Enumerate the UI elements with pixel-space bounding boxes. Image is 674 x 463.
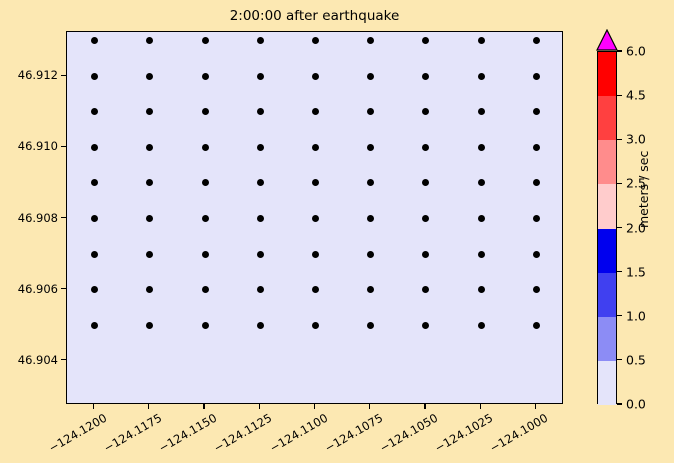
data-point [422,179,429,186]
colorbar-tick-mark [617,183,622,184]
colorbar-tick-label: 4.5 [626,88,646,103]
data-point [146,179,153,186]
data-point [533,108,540,115]
scatter-plot-axes[interactable] [66,31,563,404]
y-tick-label: 46.912 [0,68,58,82]
data-point [202,179,209,186]
data-point [202,108,209,115]
colorbar-tick-label: 6.0 [626,44,646,59]
data-point [533,215,540,222]
data-point [312,215,319,222]
data-point [312,179,319,186]
x-tick-mark [148,404,149,409]
x-tick-label: −124.1150 [156,412,217,455]
data-point [478,286,485,293]
y-tick-label: 46.910 [0,139,58,153]
data-point [367,322,374,329]
data-point [91,108,98,115]
data-point [257,251,264,258]
y-tick-mark [61,146,66,147]
data-point [91,73,98,80]
colorbar-tick-mark [617,315,622,316]
data-point [146,73,153,80]
x-tick-mark [480,404,481,409]
colorbar-tick-mark [617,95,622,96]
colorbar-band [598,184,616,228]
y-tick-label: 46.908 [0,211,58,225]
x-tick-label: −124.1175 [101,412,162,455]
data-point [422,37,429,44]
data-point [257,179,264,186]
data-point [478,179,485,186]
colorbar-tick-mark [617,227,622,228]
data-point [367,37,374,44]
data-point [257,37,264,44]
data-point [422,322,429,329]
data-point [312,251,319,258]
data-point [312,73,319,80]
data-point [478,73,485,80]
data-point [422,73,429,80]
colorbar-tick-label: 0.0 [626,397,646,412]
data-point [91,215,98,222]
page-title: 2:00:00 after earthquake [66,8,563,24]
data-point [367,286,374,293]
x-tick-label: −124.1125 [212,412,273,455]
data-point [257,108,264,115]
data-point [533,37,540,44]
colorbar-tick-mark [617,359,622,360]
colorbar-band [598,140,616,184]
data-point [146,108,153,115]
colorbar-tick-mark [617,50,622,51]
data-point [91,37,98,44]
x-tick-label: −124.1025 [432,412,493,455]
data-point [202,251,209,258]
colorbar-over-range-arrow [596,29,618,51]
y-tick-mark [61,75,66,76]
data-point [367,144,374,151]
colorbar-band [598,361,616,405]
data-point [367,251,374,258]
data-point [533,144,540,151]
data-point [367,179,374,186]
data-point [146,286,153,293]
data-point [91,286,98,293]
x-tick-label: −124.1050 [377,412,438,455]
x-tick-mark [535,404,536,409]
x-tick-label: −124.1100 [267,412,328,455]
data-point [478,108,485,115]
data-point [312,322,319,329]
data-point [533,251,540,258]
x-tick-mark [259,404,260,409]
y-tick-label: 46.904 [0,353,58,367]
data-point [367,215,374,222]
y-tick-label: 46.906 [0,282,58,296]
x-tick-mark [203,404,204,409]
colorbar-tick-label: 1.0 [626,308,646,323]
data-point [146,215,153,222]
x-tick-mark [93,404,94,409]
colorbar-band [598,52,616,96]
data-point [422,251,429,258]
data-point [478,251,485,258]
colorbar-tick-mark [617,271,622,272]
colorbar-tick-label: 0.5 [626,352,646,367]
data-point [146,322,153,329]
colorbar-tick-mark [617,139,622,140]
colorbar-tick-label: 1.5 [626,264,646,279]
data-point [91,144,98,151]
x-tick-mark [369,404,370,409]
data-point [367,73,374,80]
data-point [146,37,153,44]
x-tick-label: −124.1075 [322,412,383,455]
colorbar-tick-label: 3.0 [626,132,646,147]
data-point [478,215,485,222]
x-tick-mark [314,404,315,409]
data-point [202,322,209,329]
data-point [91,251,98,258]
data-point [312,144,319,151]
x-tick-label: −124.1200 [46,412,107,455]
colorbar-band [598,273,616,317]
colorbar-tick-mark [617,403,622,404]
data-point [202,144,209,151]
data-point [367,108,374,115]
data-point [257,73,264,80]
data-point [202,73,209,80]
data-point [422,286,429,293]
data-point [533,322,540,329]
data-point [478,322,485,329]
x-tick-mark [424,404,425,409]
data-point [422,108,429,115]
data-point [146,251,153,258]
data-point [146,144,153,151]
data-point [202,37,209,44]
y-tick-mark [61,288,66,289]
data-point [533,286,540,293]
colorbar-band [598,229,616,273]
data-point [257,322,264,329]
colorbar-band [598,317,616,361]
data-point [91,322,98,329]
x-tick-label: −124.1000 [488,412,549,455]
data-point [422,144,429,151]
colorbar[interactable] [597,51,617,404]
data-point [202,215,209,222]
data-point [91,179,98,186]
data-point [478,144,485,151]
figure-canvas: 2:00:00 after earthquake −124.1200−124.1… [0,0,674,463]
y-tick-mark [61,217,66,218]
data-point [257,144,264,151]
data-point [478,37,485,44]
data-point [257,286,264,293]
data-point [422,215,429,222]
data-point [257,215,264,222]
y-tick-mark [61,359,66,360]
colorbar-axis-label: meters / sec [636,151,651,228]
data-point [312,286,319,293]
data-point [202,286,209,293]
colorbar-band [598,96,616,140]
data-point [312,37,319,44]
data-point [533,73,540,80]
data-point [312,108,319,115]
scatter-points-layer [67,32,562,403]
data-point [533,179,540,186]
